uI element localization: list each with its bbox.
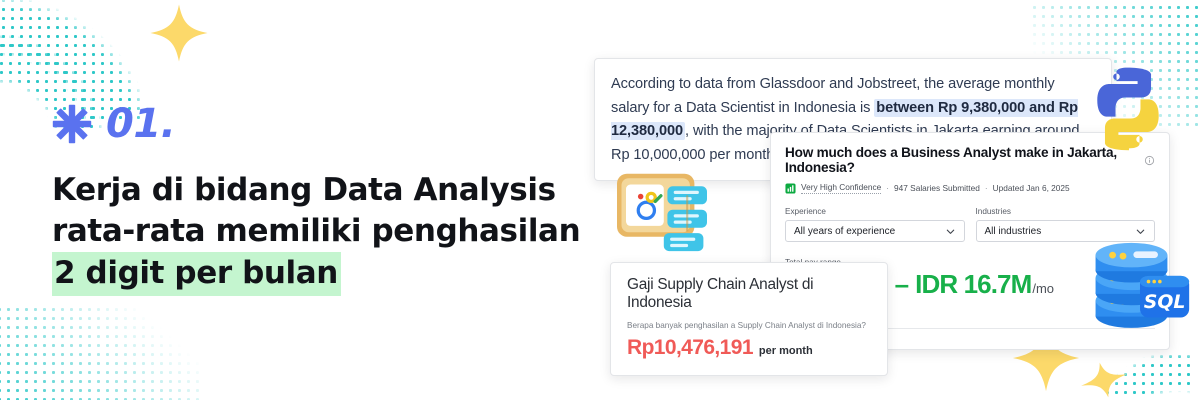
glassdoor-filters: Experience All years of experience Indus… [785,207,1155,242]
updated-date-label: Updated Jan 6, 2025 [993,183,1070,193]
halftone-dots-bottom-left [0,305,201,400]
salaries-submitted-label: 947 Salaries Submitted [894,183,980,193]
burst-star-icon [52,104,92,144]
meta-separator-1: · [886,183,889,193]
industries-label: Industries [976,207,1156,216]
experience-label: Experience [785,207,965,216]
chevron-down-icon [1135,226,1146,237]
headline-block: 01. Kerja di bidang Data Analysis rata-r… [52,100,592,296]
industries-field: Industries All industries [976,207,1156,242]
page-title: Kerja di bidang Data Analysis rata-rata … [52,170,592,296]
step-marker-row: 01. [52,100,592,148]
kanban-board-icon [608,166,716,266]
experience-field: Experience All years of experience [785,207,965,242]
sparkle-star-icon [148,2,210,64]
info-circle-icon[interactable] [1144,155,1155,166]
supply-chain-period: per month [759,345,813,357]
glassdoor-meta-row: Very High Confidence · 947 Salaries Subm… [785,182,1155,194]
experience-select[interactable]: All years of experience [785,220,965,242]
pay-high-value: IDR 16.7M [915,269,1031,300]
meta-separator-2: · [985,183,988,193]
bar-chart-icon [785,183,796,194]
headline-highlight: 2 digit per bulan [52,252,341,296]
glassdoor-title-row: How much does a Business Analyst make in… [785,145,1155,175]
supply-chain-salary-card: Gaji Supply Chain Analyst di Indonesia B… [610,262,888,376]
screenshot-collage: According to data from Glassdoor and Job… [588,0,1200,400]
supply-chain-amount: Rp10,476,191 [627,336,753,360]
chevron-down-icon [945,226,956,237]
experience-selected-value: All years of experience [794,226,895,237]
industries-select[interactable]: All industries [976,220,1156,242]
headline-line-1: Kerja di bidang Data Analysis [52,170,592,211]
step-number: 01. [106,104,175,144]
pay-unit: /mo [1032,281,1054,296]
headline-line-2: rata-rata memiliki penghasilan [52,211,592,252]
confidence-label: Very High Confidence [801,182,881,194]
supply-chain-question: Berapa banyak penghasilan a Supply Chain… [627,321,872,330]
supply-chain-amount-row: Rp10,476,191 per month [627,336,872,360]
slide-canvas: 01. Kerja di bidang Data Analysis rata-r… [0,0,1200,400]
glassdoor-question-title: How much does a Business Analyst make in… [785,145,1138,175]
industries-selected-value: All industries [985,226,1042,237]
supply-chain-title: Gaji Supply Chain Analyst di Indonesia [627,276,872,312]
pay-dash: – [895,269,909,300]
